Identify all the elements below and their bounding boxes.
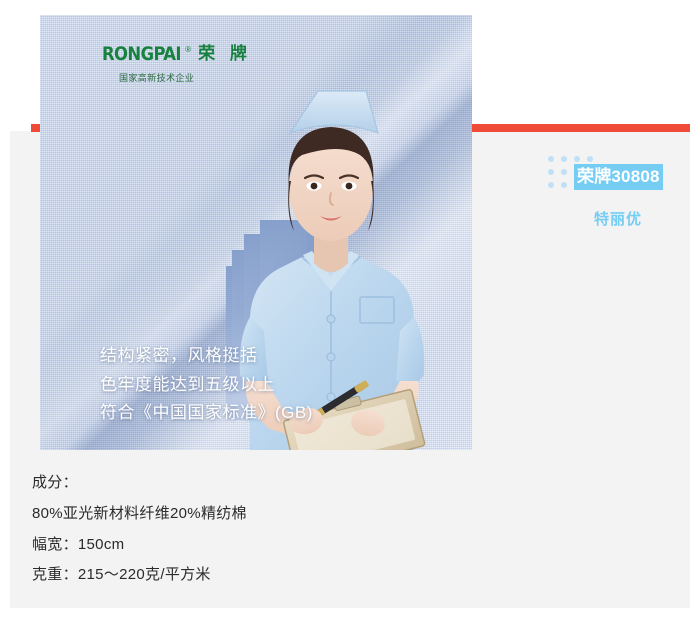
spec-composition-value: 80%亚光新材料纤维20%精纺棉 xyxy=(32,499,247,530)
spec-composition-label: 成分： xyxy=(32,468,247,499)
hero-caption-line-2: 色牢度能达到五级以上 xyxy=(100,371,313,399)
brand-logo: RONGPAI ® 荣 牌 国家高新技术企业 xyxy=(102,45,252,84)
hero-caption-line-1: 结构紧密，风格挺括 xyxy=(100,342,313,370)
dot xyxy=(561,156,567,162)
dot xyxy=(548,182,554,188)
dot xyxy=(574,156,580,162)
logo-row: RONGPAI ® 荣 牌 xyxy=(102,45,252,64)
hero-caption-line-3: 符合《中国国家标准》(GB) xyxy=(100,399,313,427)
product-model-title: 荣牌30808 xyxy=(574,164,663,190)
logo-chinese-name: 荣 牌 xyxy=(198,45,252,62)
spec-width: 幅宽：150cm xyxy=(32,530,247,561)
logo-tagline: 国家高新技术企业 xyxy=(119,71,252,84)
specifications-list: 成分： 80%亚光新材料纤维20%精纺棉 幅宽：150cm 克重：215～220… xyxy=(32,468,247,591)
dot xyxy=(561,182,567,188)
dot xyxy=(587,156,593,162)
product-series-subtitle: 特丽优 xyxy=(594,208,642,229)
hero-caption: 结构紧密，风格挺括 色牢度能达到五级以上 符合《中国国家标准》(GB) xyxy=(100,342,313,428)
spec-weight: 克重：215～220克/平方米 xyxy=(32,560,247,591)
dot xyxy=(548,169,554,175)
dot xyxy=(561,169,567,175)
logo-wordmark: RONGPAI xyxy=(102,45,181,64)
hero-product-image: 结构紧密，风格挺括 色牢度能达到五级以上 符合《中国国家标准》(GB) RONG… xyxy=(40,15,472,450)
registered-trademark-icon: ® xyxy=(185,46,191,54)
product-badge: 荣牌30808 特丽优 xyxy=(548,156,663,190)
dot xyxy=(548,156,554,162)
